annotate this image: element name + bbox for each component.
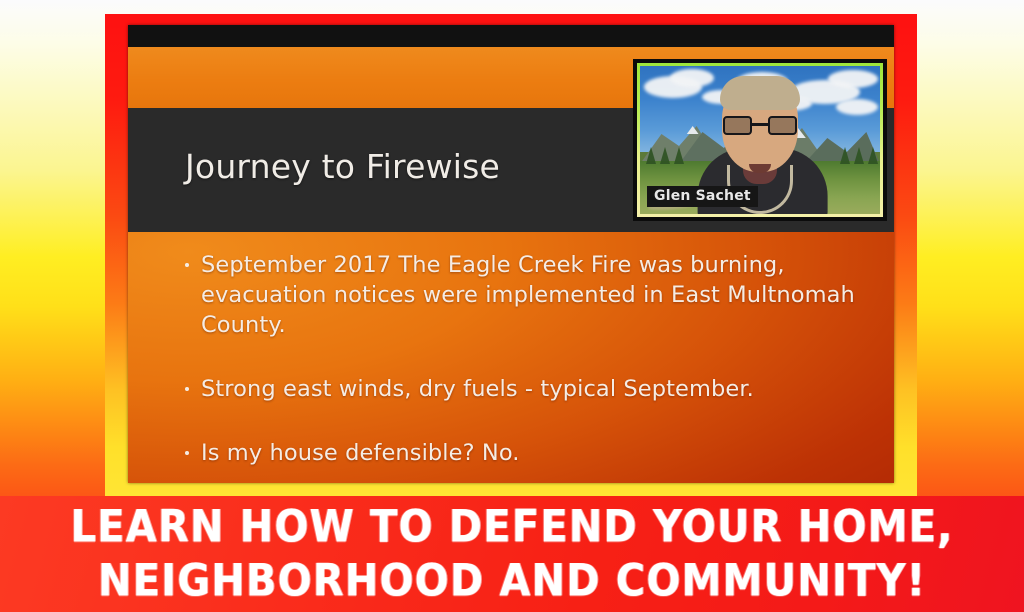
- webcam-participant-name: Glen Sachet: [647, 186, 758, 207]
- slide-body: September 2017 The Eagle Creek Fire was …: [128, 232, 894, 483]
- tree-icon: [868, 147, 878, 164]
- tree-icon: [840, 147, 850, 164]
- slide-gradient-frame: Journey to Firewise September 2017 The E…: [105, 14, 917, 496]
- cloud-icon: [836, 99, 878, 115]
- eyeglass-bridge: [752, 123, 768, 126]
- slide-bullet-item: September 2017 The Eagle Creek Fire was …: [183, 250, 866, 340]
- webcam-tile[interactable]: Glen Sachet: [633, 59, 887, 221]
- tree-icon: [646, 147, 656, 164]
- tree-icon: [854, 147, 864, 164]
- eyeglass-lens-left: [723, 116, 752, 135]
- caption-band: LEARN HOW TO DEFEND YOUR HOME, NEIGHBORH…: [0, 496, 1024, 612]
- slide-bullet-item: Strong east winds, dry fuels - typical S…: [183, 374, 866, 404]
- participant-hair: [720, 76, 800, 110]
- eyeglass-lens-right: [768, 116, 797, 135]
- webcam-active-speaker-border: Glen Sachet: [637, 63, 883, 217]
- caption-line-1: LEARN HOW TO DEFEND YOUR HOME,: [70, 497, 953, 557]
- tree-icon: [660, 147, 670, 164]
- slide-bullet-item: Is my house defensible? No.: [183, 438, 866, 468]
- cloud-icon: [670, 69, 714, 87]
- slide-bullet-list: September 2017 The Eagle Creek Fire was …: [183, 250, 866, 468]
- screen-letterbox-top: [128, 25, 894, 47]
- tree-icon: [674, 147, 684, 164]
- eyeglasses-icon: [723, 116, 797, 135]
- cloud-icon: [828, 70, 878, 88]
- poster-canvas: Journey to Firewise September 2017 The E…: [0, 0, 1024, 612]
- caption-line-2: NEIGHBORHOOD AND COMMUNITY!: [98, 551, 926, 611]
- shared-screen-slide: Journey to Firewise September 2017 The E…: [128, 25, 894, 483]
- slide-title: Journey to Firewise: [185, 147, 500, 186]
